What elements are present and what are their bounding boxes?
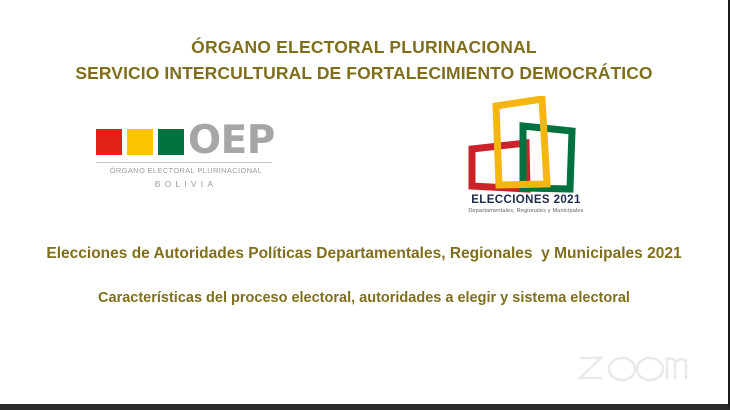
oep-color-squares (96, 126, 184, 155)
body-line-caracteristicas: Características del proceso electoral, a… (0, 290, 728, 306)
body-line-elecciones-autoridades: Elecciones de Autoridades Políticas Depa… (0, 245, 728, 263)
zoom-logo-icon (576, 344, 700, 386)
elecciones-logo-mark (454, 96, 599, 194)
oep-square-yellow-icon (127, 129, 153, 155)
oep-subtitle: ÓRGANO ELECTORAL PLURINACIONAL (96, 166, 276, 175)
header-line-organo-electoral: ÓRGANO ELECTORAL PLURINACIONAL (0, 36, 728, 59)
oep-wordmark: OEP (188, 124, 275, 158)
zoom-watermark (576, 344, 700, 386)
elecciones-subtitle: Departamentales, Regionales y Municipale… (446, 208, 606, 214)
oep-country-label: BOLIVIA (96, 179, 276, 189)
slide-header: ÓRGANO ELECTORAL PLURINACIONAL SERVICIO … (0, 36, 728, 85)
elecciones-title: ELECCIONES 2021 (446, 194, 606, 206)
presentation-slide: ÓRGANO ELECTORAL PLURINACIONAL SERVICIO … (0, 0, 730, 410)
elecciones-buildings-icon (454, 96, 599, 194)
oep-square-red-icon (96, 129, 122, 155)
oep-logo: OEP ÓRGANO ELECTORAL PLURINACIONAL BOLIV… (96, 126, 296, 189)
header-line-servicio-intercultural: SERVICIO INTERCULTURAL DE FORTALECIMIENT… (0, 62, 728, 85)
elecciones-2021-logo: ELECCIONES 2021 Departamentales, Regiona… (446, 96, 606, 221)
oep-logo-mark: OEP (96, 126, 296, 158)
elecciones-caption: ELECCIONES 2021 Departamentales, Regiona… (446, 194, 606, 214)
logos-row: OEP ÓRGANO ELECTORAL PLURINACIONAL BOLIV… (0, 96, 728, 221)
oep-square-green-icon (158, 129, 184, 155)
slide-body: Elecciones de Autoridades Políticas Depa… (0, 245, 728, 306)
